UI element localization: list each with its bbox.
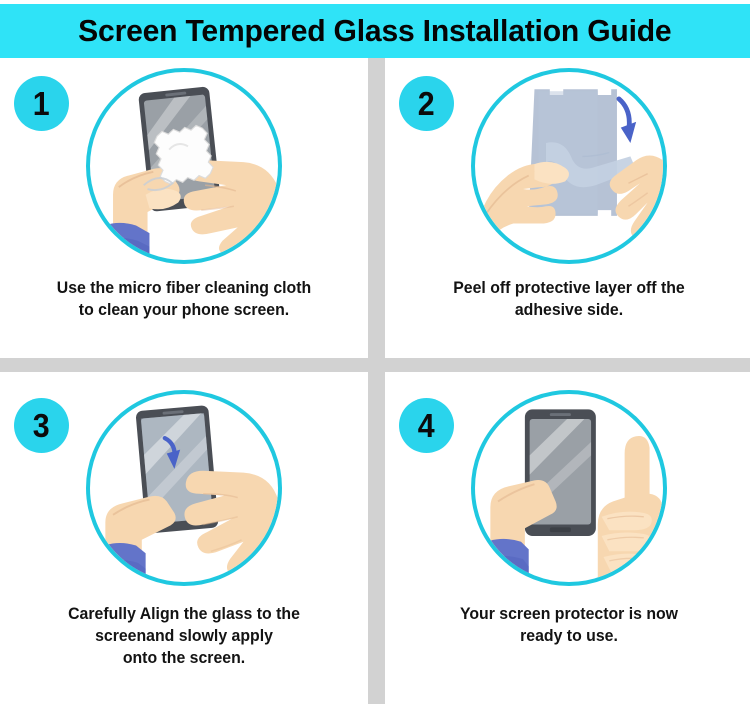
caption-line: Carefully Align the glass to the xyxy=(7,604,360,626)
step-number-4: 4 xyxy=(418,409,435,442)
step-panel-1: 1 xyxy=(0,58,368,358)
hand-wiping-phone-with-cloth-icon xyxy=(86,68,282,264)
step-number-badge-1: 1 xyxy=(14,76,69,131)
step-caption-3: Carefully Align the glass to the screena… xyxy=(7,604,360,669)
caption-line: screenand slowly apply xyxy=(7,626,360,648)
step-number-3: 3 xyxy=(33,409,50,442)
hand-aligning-glass-on-phone-icon xyxy=(86,390,282,586)
hand-holding-phone-thumbs-up-icon xyxy=(471,390,667,586)
caption-line: adhesive side. xyxy=(392,300,745,322)
caption-line: ready to use. xyxy=(392,626,745,648)
step-number-2: 2 xyxy=(418,87,435,120)
hands-peeling-protective-film-icon xyxy=(471,68,667,264)
step-panel-4: 4 xyxy=(385,372,750,704)
header-banner: Screen Tempered Glass Installation Guide xyxy=(0,4,750,58)
vertical-divider xyxy=(368,58,385,704)
step-panel-2: 2 xyxy=(385,58,750,358)
step-caption-4: Your screen protector is now ready to us… xyxy=(392,604,745,648)
caption-line: Your screen protector is now xyxy=(392,604,745,626)
step-number-badge-4: 4 xyxy=(399,398,454,453)
horizontal-divider xyxy=(0,358,750,372)
step-caption-1: Use the micro fiber cleaning cloth to cl… xyxy=(7,278,360,322)
steps-grid: 1 xyxy=(0,58,750,704)
step-panel-3: 3 xyxy=(0,372,368,704)
step-number-badge-3: 3 xyxy=(14,398,69,453)
caption-line: onto the screen. xyxy=(7,648,360,670)
caption-line: Peel off protective layer off the xyxy=(392,278,745,300)
step-caption-2: Peel off protective layer off the adhesi… xyxy=(392,278,745,322)
step-number-badge-2: 2 xyxy=(399,76,454,131)
page-title: Screen Tempered Glass Installation Guide xyxy=(78,13,671,49)
caption-line: to clean your phone screen. xyxy=(7,300,360,322)
step-number-1: 1 xyxy=(33,87,50,120)
caption-line: Use the micro fiber cleaning cloth xyxy=(7,278,360,300)
